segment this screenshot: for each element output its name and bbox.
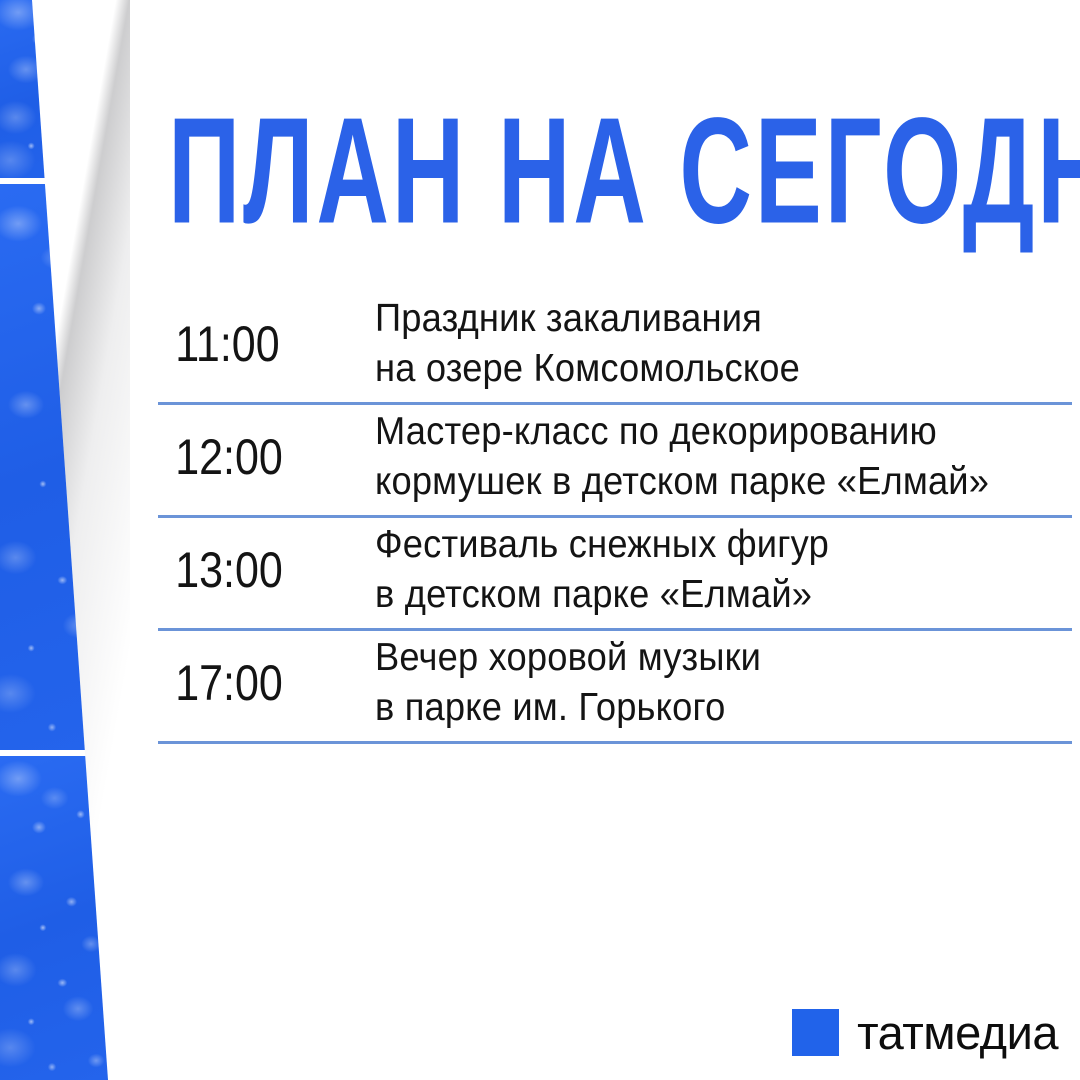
schedule-row-time: 11:00 <box>158 319 345 369</box>
logo-wordmark: татмедиа <box>857 1009 1058 1056</box>
schedule-row-line-2: кормушек в детском парке «Елмай» <box>375 457 1023 507</box>
left-decorative-strip <box>0 0 130 1080</box>
schedule-row-description: Вечер хоровой музыки в парке им. Горьког… <box>375 633 1023 732</box>
schedule-row-description: Мастер-класс по декорированию кормушек в… <box>375 407 1023 506</box>
schedule-row: 17:00 Вечер хоровой музыки в парке им. Г… <box>158 631 1072 741</box>
schedule-row-line-1: Вечер хоровой музыки <box>375 633 1023 683</box>
schedule-row-line-1: Мастер-класс по декорированию <box>375 407 1023 457</box>
schedule-row-line-1: Праздник закаливания <box>375 294 1023 344</box>
schedule-row-time: 17:00 <box>158 658 345 708</box>
schedule-row: 11:00 Праздник закаливания на озере Комс… <box>158 292 1072 402</box>
schedule-row-description: Фестиваль снежных фигур в детском парке … <box>375 520 1023 619</box>
schedule-row: 13:00 Фестиваль снежных фигур в детском … <box>158 518 1072 628</box>
schedule-row-description: Праздник закаливания на озере Комсомольс… <box>375 294 1023 393</box>
poster-canvas: ПЛАН НА СЕГОДНЯ 11:00 Праздник закаливан… <box>0 0 1080 1080</box>
schedule-row-line-2: на озере Комсомольское <box>375 344 1023 394</box>
schedule-row-time: 12:00 <box>158 432 345 482</box>
schedule-row: 12:00 Мастер-класс по декорированию корм… <box>158 405 1072 515</box>
schedule-list: 11:00 Праздник закаливания на озере Комс… <box>158 292 1072 744</box>
page-title: ПЛАН НА СЕГОДНЯ <box>168 96 753 247</box>
logo-square-icon <box>792 1009 839 1056</box>
schedule-row-line-1: Фестиваль снежных фигур <box>375 520 1023 570</box>
brand-logo: татмедиа <box>792 1009 1058 1056</box>
schedule-row-time: 13:00 <box>158 545 345 595</box>
schedule-row-line-2: в парке им. Горького <box>375 683 1023 733</box>
schedule-row-line-2: в детском парке «Елмай» <box>375 570 1023 620</box>
schedule-divider <box>158 741 1072 744</box>
